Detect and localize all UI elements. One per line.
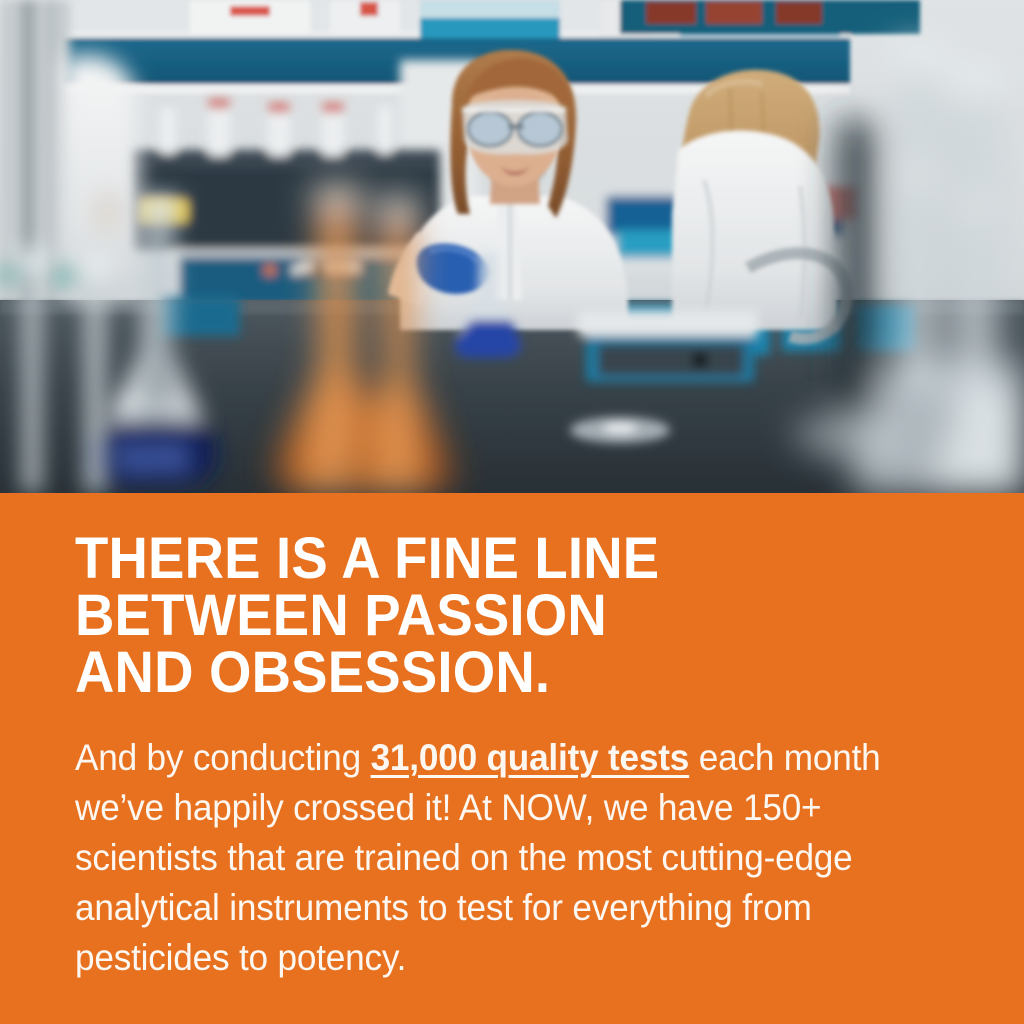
body-copy-part1: And by conducting	[75, 737, 371, 778]
page-title: THERE IS A FINE LINE BETWEEN PASSION AND…	[75, 530, 921, 701]
quality-tests-highlight: 31,000 quality tests	[371, 737, 690, 778]
body-copy: And by conducting 31,000 quality tests e…	[75, 733, 911, 983]
laboratory-photo: 500	[0, 0, 1024, 493]
laboratory-photo-illustration: 500	[0, 0, 1024, 493]
poster: 500	[0, 0, 1024, 1024]
